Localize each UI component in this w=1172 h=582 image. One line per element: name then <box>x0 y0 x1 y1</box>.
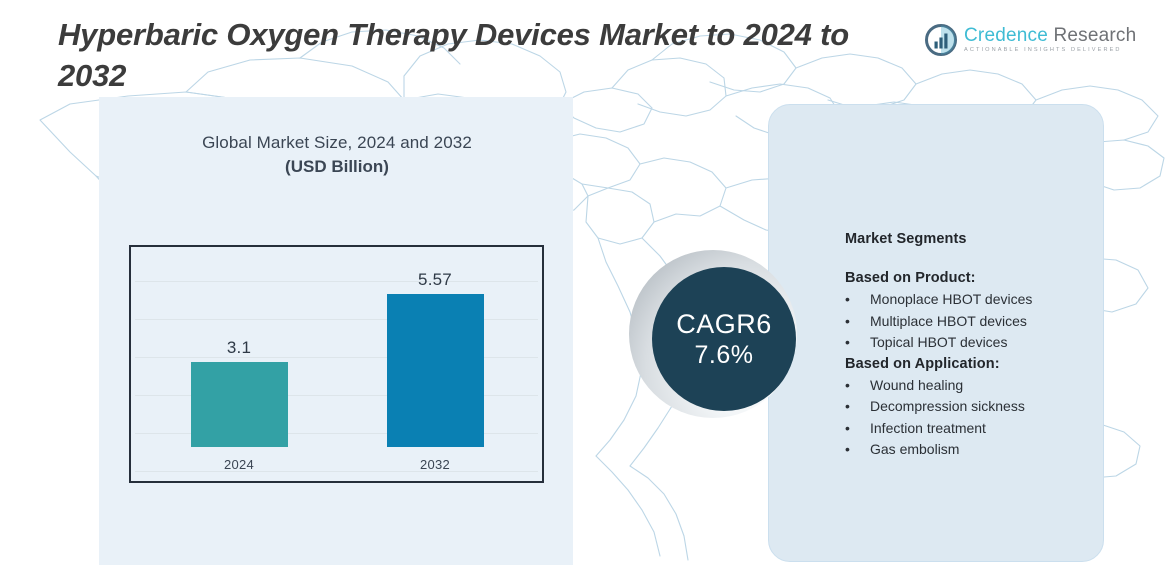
segment-list-item: •Infection treatment <box>845 418 1095 440</box>
bullet-icon: • <box>845 418 870 440</box>
page-title: Hyperbaric Oxygen Therapy Devices Market… <box>58 14 918 96</box>
brand-logo[interactable]: Credence Research Actionable Insights De… <box>925 20 1111 60</box>
bullet-icon: • <box>845 311 870 333</box>
segment-item-label: Monoplace HBOT devices <box>870 289 1032 311</box>
segment-item-label: Topical HBOT devices <box>870 332 1007 354</box>
segment-item-label: Gas embolism <box>870 439 959 461</box>
chart-title-units: (USD Billion) <box>129 155 545 179</box>
chart-bar <box>387 294 484 447</box>
logo-wordmark: Credence Research Actionable Insights De… <box>964 26 1136 55</box>
circle-bar-chart-logo-icon <box>925 24 957 56</box>
segment-list: •Monoplace HBOT devices•Multiplace HBOT … <box>845 289 1095 354</box>
logo-company-name: Credence Research <box>964 26 1136 46</box>
bullet-icon: • <box>845 332 870 354</box>
cagr-label: CAGR6 <box>676 308 772 340</box>
segments-heading: Market Segments <box>845 229 1095 249</box>
logo-tagline: Actionable Insights Delivered <box>964 46 1136 55</box>
segment-item-label: Multiplace HBOT devices <box>870 311 1027 333</box>
segment-list-item: •Multiplace HBOT devices <box>845 311 1095 333</box>
chart-title-main: Global Market Size, 2024 and 2032 <box>129 131 545 155</box>
chart-title-block: Global Market Size, 2024 and 2032 (USD B… <box>129 131 545 179</box>
segment-group-label: Based on Product: <box>845 268 1095 289</box>
bullet-icon: • <box>845 396 870 418</box>
cagr-value: 7.6% <box>695 340 754 371</box>
bullet-icon: • <box>845 375 870 397</box>
segment-item-label: Decompression sickness <box>870 396 1025 418</box>
segment-list-item: •Decompression sickness <box>845 396 1095 418</box>
segment-item-label: Infection treatment <box>870 418 986 440</box>
logo-name-credence: Credence <box>964 25 1048 46</box>
bullet-icon: • <box>845 439 870 461</box>
market-segments-block: Market Segments Based on Product:•Monopl… <box>845 229 1095 461</box>
segment-groups: Based on Product:•Monoplace HBOT devices… <box>845 268 1095 461</box>
bullet-icon: • <box>845 289 870 311</box>
chart-category-label: 2032 <box>375 457 495 472</box>
segment-list-item: •Monoplace HBOT devices <box>845 289 1095 311</box>
chart-bar-value-label: 3.1 <box>179 338 299 358</box>
segment-list-item: •Gas embolism <box>845 439 1095 461</box>
segment-group-label: Based on Application: <box>845 354 1095 375</box>
segment-list-item: •Topical HBOT devices <box>845 332 1095 354</box>
logo-name-research: Research <box>1048 25 1136 46</box>
segment-list-item: •Wound healing <box>845 375 1095 397</box>
chart-bar-value-label: 5.57 <box>375 270 495 290</box>
infographic-canvas: Hyperbaric Oxygen Therapy Devices Market… <box>0 0 1172 582</box>
chart-bar <box>191 362 288 447</box>
cagr-badge: CAGR6 7.6% <box>652 267 796 411</box>
plot-area: 3.120245.572032 <box>131 247 542 481</box>
bar-chart: 3.120245.572032 <box>129 245 544 483</box>
chart-category-label: 2024 <box>179 457 299 472</box>
segment-list: •Wound healing•Decompression sickness•In… <box>845 375 1095 461</box>
segment-item-label: Wound healing <box>870 375 963 397</box>
